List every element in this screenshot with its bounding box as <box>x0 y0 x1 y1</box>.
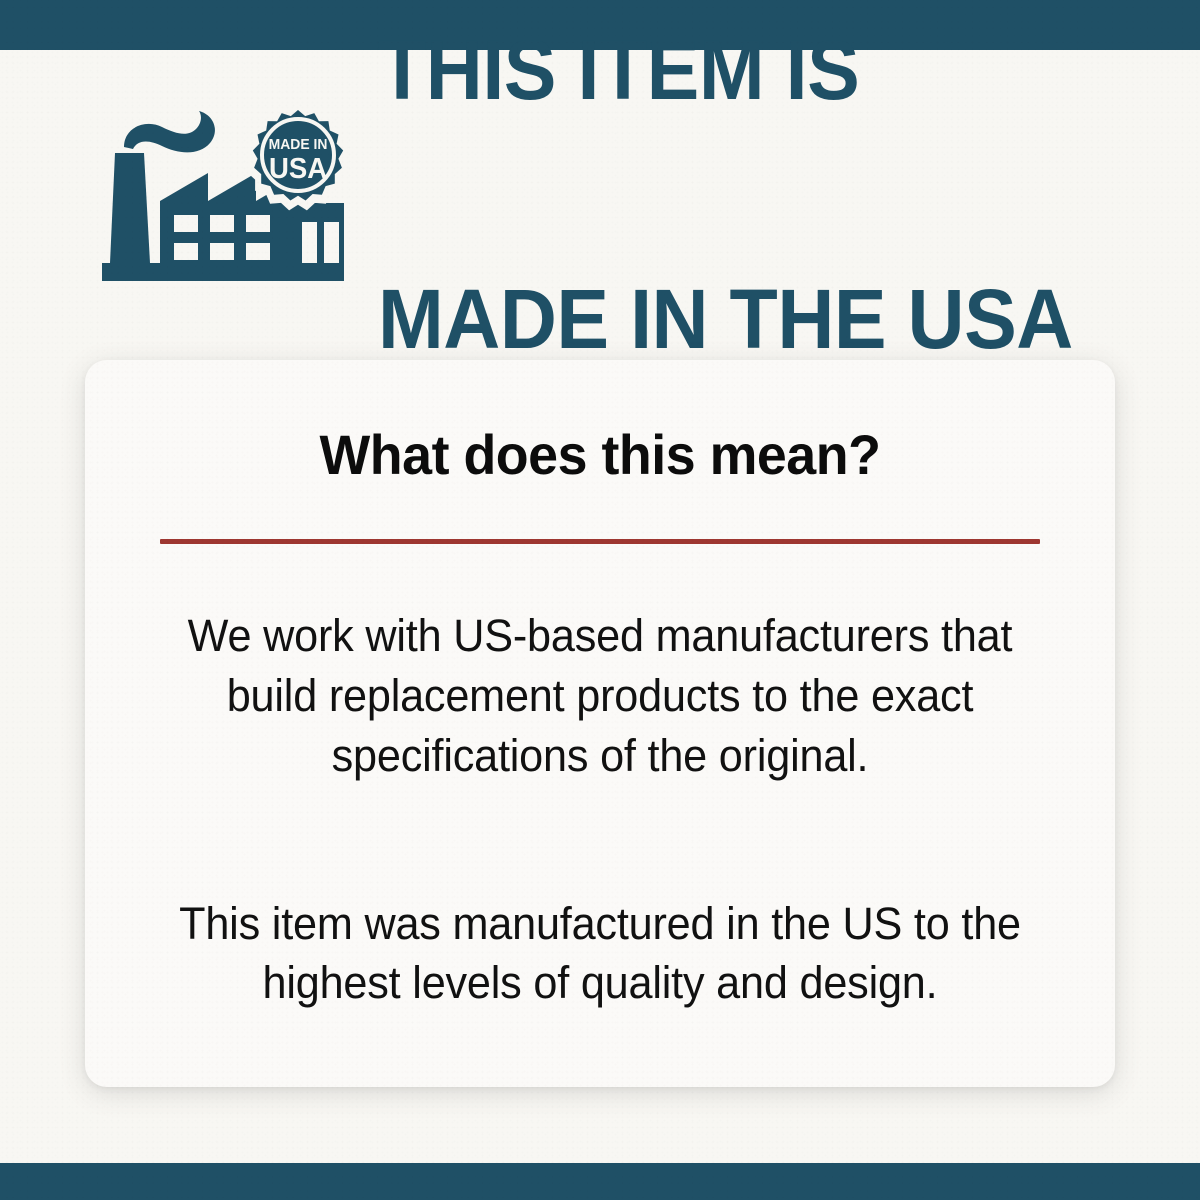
factory-icon: MADE IN USA <box>98 103 348 288</box>
badge-usa-label: USA <box>269 151 327 184</box>
card-divider <box>160 539 1040 544</box>
card-paragraph-2: This item was manufactured in the US to … <box>106 894 1095 1014</box>
factory-base-icon <box>102 263 344 281</box>
card-paragraph-1: We work with US-based manufacturers that… <box>106 606 1095 786</box>
headline-line-2: MADE IN THE USA <box>378 278 1151 361</box>
made-in-usa-badge-icon: MADE IN USA <box>245 105 348 210</box>
smokestack-icon <box>110 153 150 263</box>
card-heading: What does this mean? <box>106 422 1095 487</box>
made-in-usa-banner: MADE IN USA THIS ITEM IS MADE IN THE USA… <box>0 0 1200 1200</box>
info-card: What does this mean? We work with US-bas… <box>85 360 1115 1087</box>
bottom-accent-bar <box>0 1163 1200 1200</box>
factory-logo: MADE IN USA <box>98 103 348 288</box>
headline-line-1: THIS ITEM IS <box>378 29 1151 112</box>
smoke-icon <box>124 111 215 152</box>
header: MADE IN USA THIS ITEM IS MADE IN THE USA <box>0 95 1200 295</box>
